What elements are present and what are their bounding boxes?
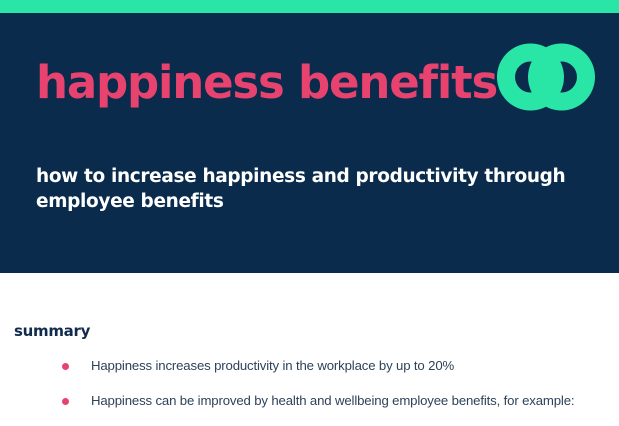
list-item: Happiness can be improved by health and …	[0, 392, 619, 411]
top-accent-bar	[0, 0, 619, 13]
double-ring-icon	[496, 41, 596, 113]
list-item-text: Happiness can be improved by health and …	[91, 393, 574, 408]
page-title: happiness benefits	[36, 60, 497, 105]
summary-heading: summary	[14, 324, 90, 339]
summary-bullet-list: Happiness increases productivity in the …	[0, 357, 619, 426]
summary-section: summary Happiness increases productivity…	[0, 273, 619, 426]
brand-logo	[496, 41, 596, 113]
bullet-dot-icon	[62, 398, 69, 405]
list-item: Happiness increases productivity in the …	[0, 357, 619, 376]
hero-header: happiness benefits how to increase happi…	[0, 13, 619, 273]
bullet-dot-icon	[62, 363, 69, 370]
list-item-text: Happiness increases productivity in the …	[91, 358, 454, 373]
page-subtitle: how to increase happiness and productivi…	[36, 165, 601, 215]
